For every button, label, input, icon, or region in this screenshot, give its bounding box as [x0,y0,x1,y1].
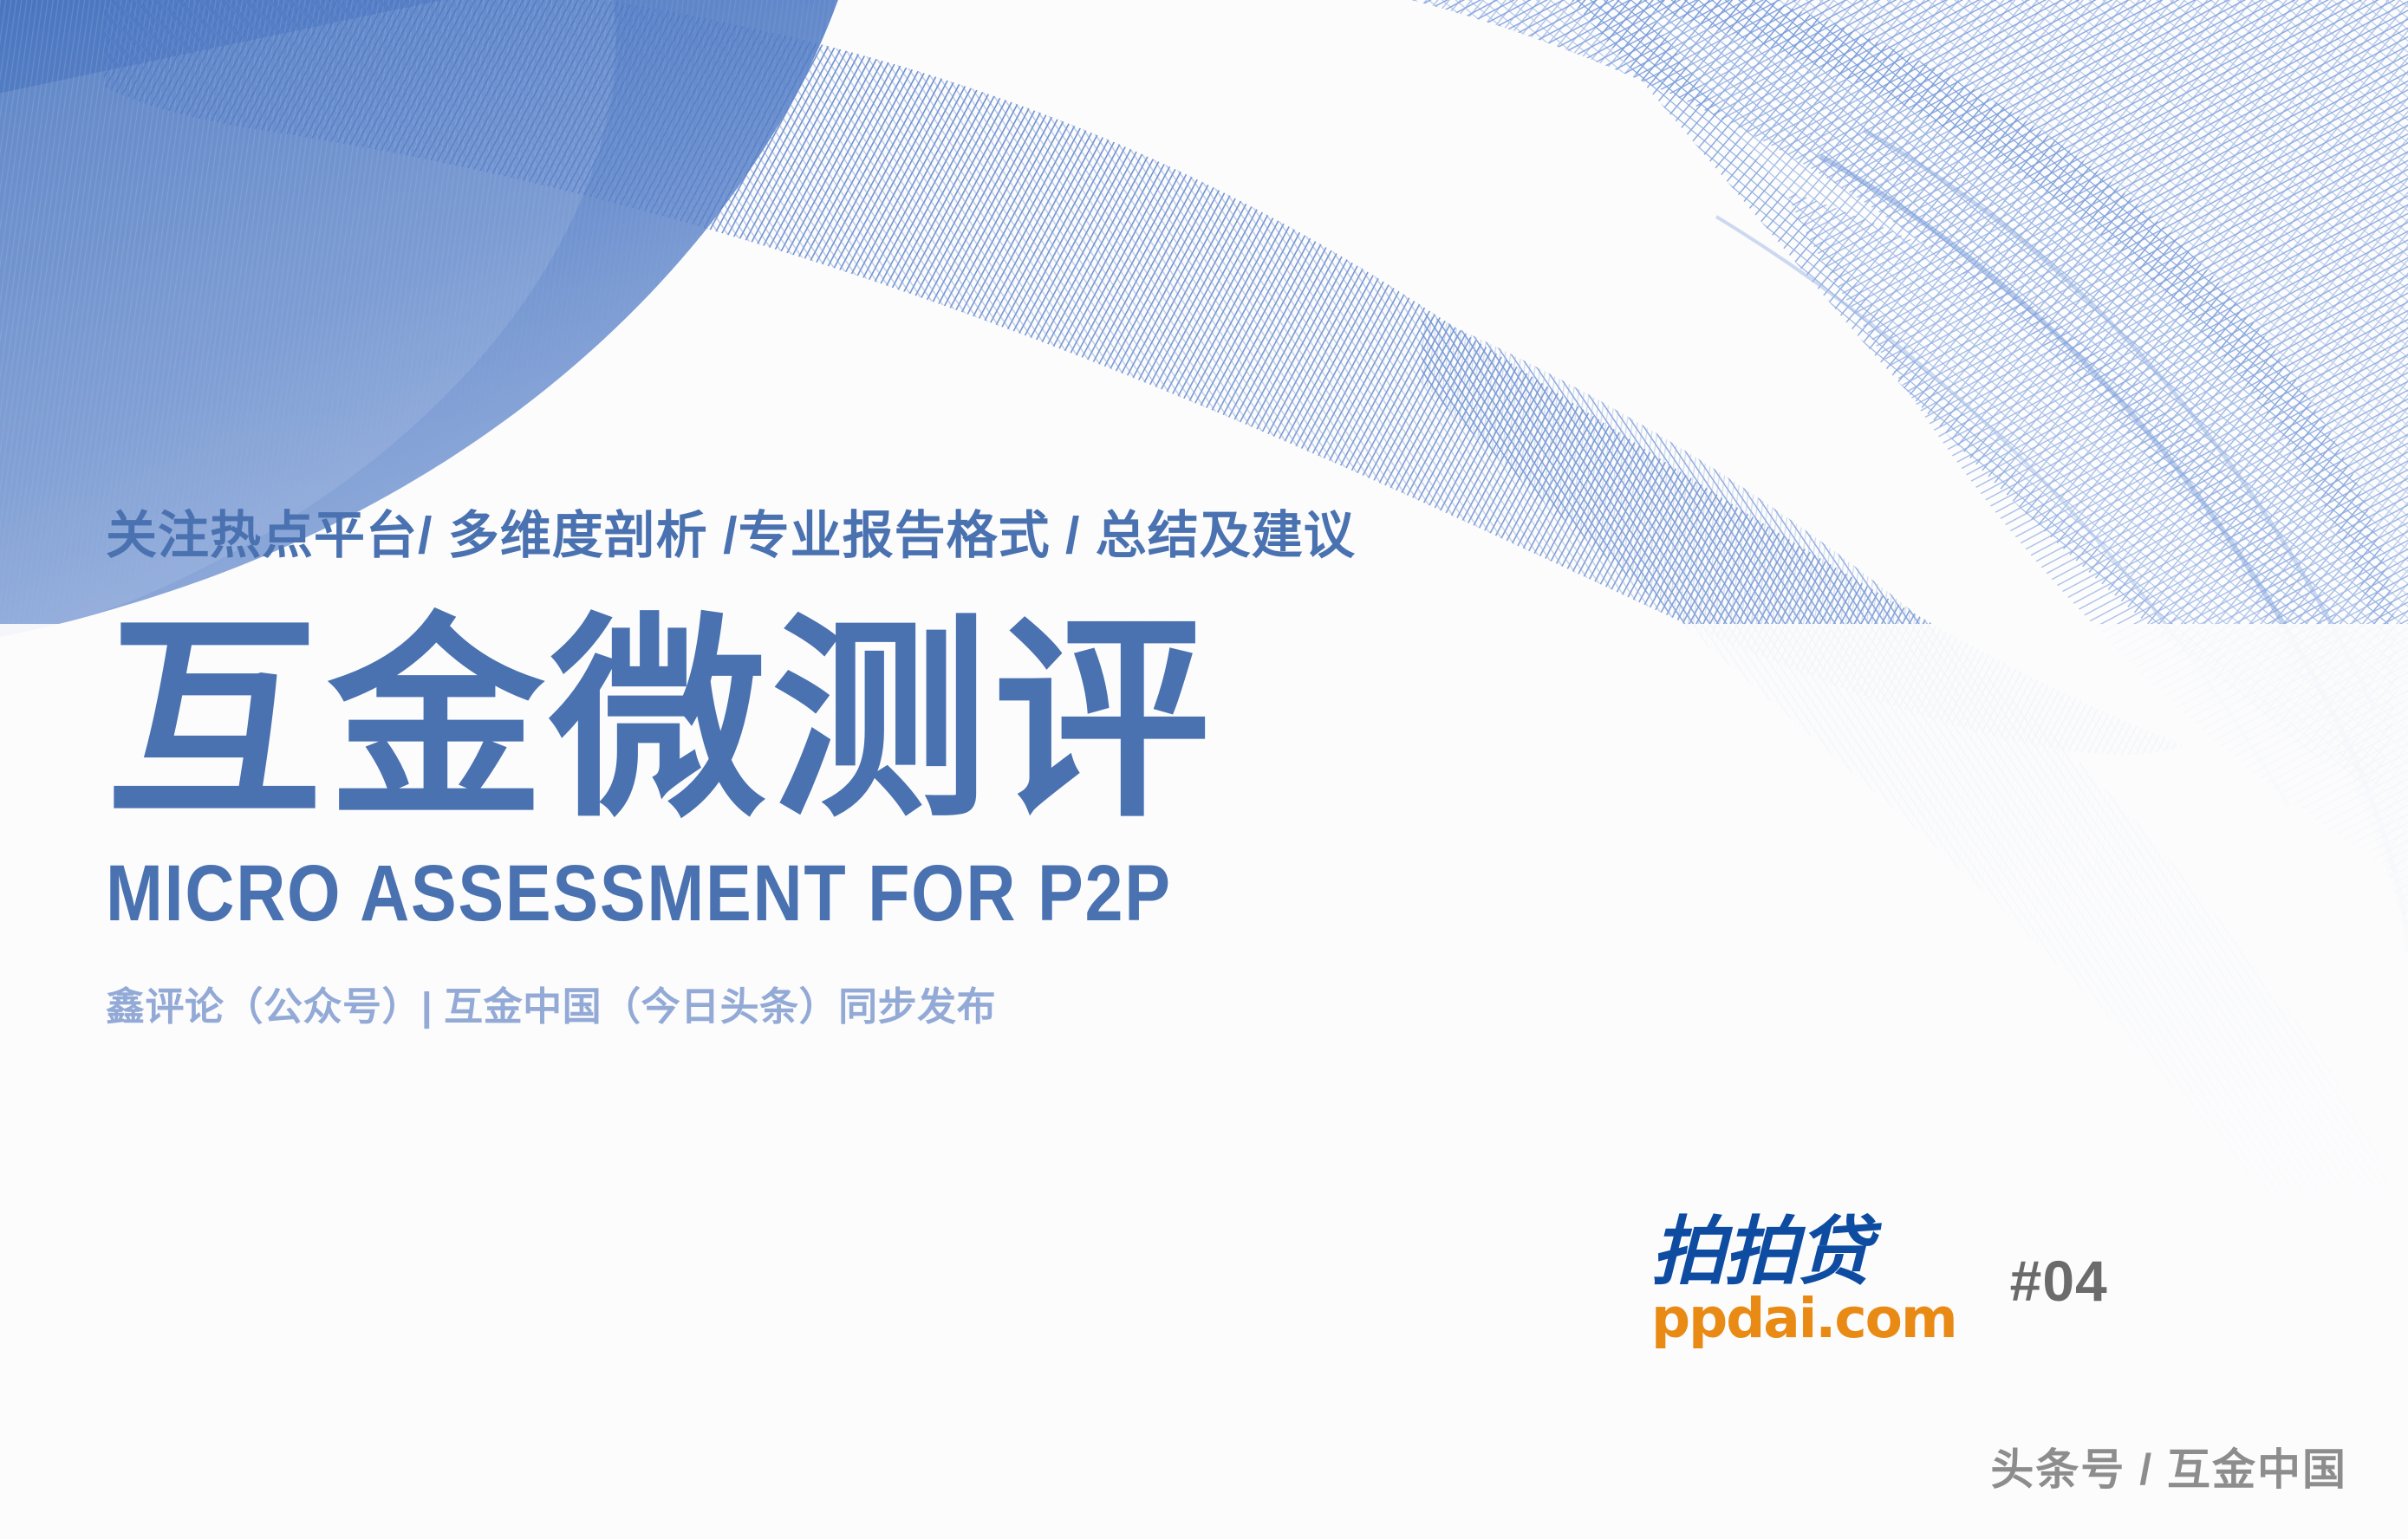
ppdai-logo-domain: ppdai.com [1651,1291,1956,1346]
sponsor-logo-block: 拍拍贷 ppdai.com #04 [1651,1215,2108,1346]
title-block: 关注热点平台/ 多维度剖析 /专业报告格式 / 总结及建议 互金微测评 MICR… [106,507,1926,1032]
footer-credit: 头条号 / 互金中国 [1990,1435,2347,1497]
page-title: 互金微测评 [106,613,1926,829]
page-subtitle-english: MICRO ASSESSMENT FOR P2P [106,854,1671,933]
eyebrow-line: 关注热点平台/ 多维度剖析 /专业报告格式 / 总结及建议 [106,507,1926,566]
ppdai-logo: 拍拍贷 ppdai.com [1651,1215,1956,1346]
issue-number: #04 [2010,1248,2108,1314]
slide-canvas: 关注热点平台/ 多维度剖析 /专业报告格式 / 总结及建议 互金微测评 MICR… [0,0,2408,1539]
ppdai-logo-cn: 拍拍贷 [1651,1215,1870,1289]
publication-tagline: 鑫评论（公众号）| 互金中国（今日头条）同步发布 [106,982,1926,1033]
